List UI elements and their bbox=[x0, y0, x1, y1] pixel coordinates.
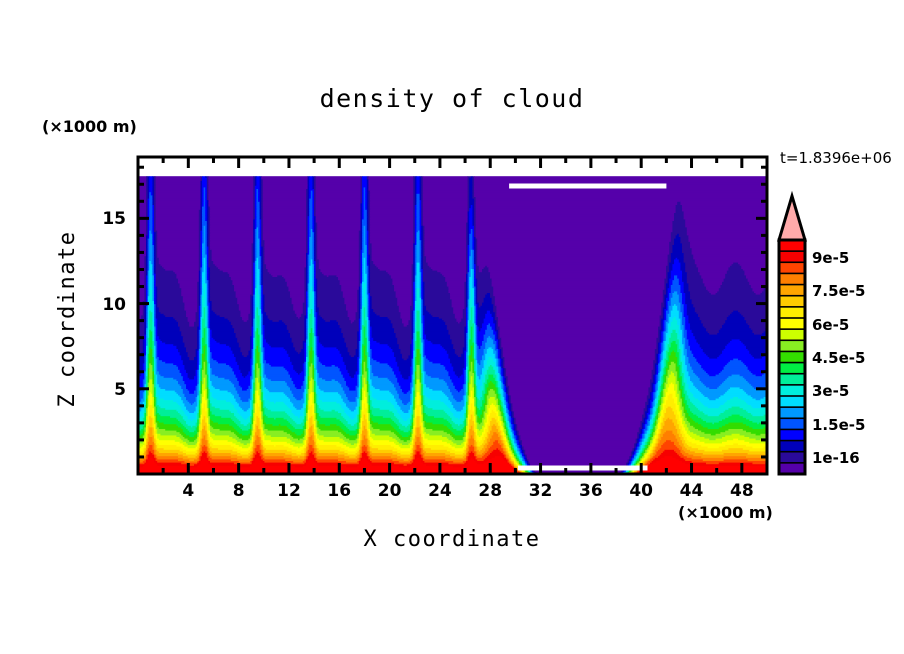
colorbar-tick-label: 9e-5 bbox=[812, 249, 849, 267]
colorbar-extend-arrow bbox=[779, 196, 805, 240]
x-tick-label: 8 bbox=[217, 481, 261, 501]
contour-bands bbox=[138, 176, 769, 476]
colorbar-swatch[interactable] bbox=[779, 418, 805, 430]
x-tick-label: 24 bbox=[418, 481, 462, 501]
x-tick-label: 16 bbox=[317, 481, 361, 501]
colorbar-swatch[interactable] bbox=[779, 374, 805, 386]
colorbar-swatch[interactable] bbox=[779, 351, 805, 363]
x-tick-label: 20 bbox=[368, 481, 412, 501]
x-tick-label: 36 bbox=[569, 481, 613, 501]
colorbar-tick-label: 4.5e-5 bbox=[812, 349, 865, 367]
colorbar-tick-label: 3e-5 bbox=[812, 382, 849, 400]
x-tick-label: 28 bbox=[468, 481, 512, 501]
x-tick-label: 40 bbox=[619, 481, 663, 501]
colorbar-swatch[interactable] bbox=[779, 296, 805, 308]
colorbar-swatch[interactable] bbox=[779, 385, 805, 397]
y-tick-label: 10 bbox=[86, 295, 126, 315]
colorbar-swatch[interactable] bbox=[779, 251, 805, 263]
colorbar-swatch[interactable] bbox=[779, 441, 805, 453]
colorbar-swatch[interactable] bbox=[779, 262, 805, 274]
colorbar-swatch[interactable] bbox=[779, 307, 805, 319]
colorbar-swatch[interactable] bbox=[779, 407, 805, 419]
y-tick-label: 15 bbox=[86, 209, 126, 229]
colorbar-swatch[interactable] bbox=[779, 273, 805, 285]
colorbar-tick-label: 6e-5 bbox=[812, 316, 849, 334]
colorbar-swatch[interactable] bbox=[779, 452, 805, 464]
x-tick-label: 48 bbox=[720, 481, 764, 501]
x-tick-label: 44 bbox=[670, 481, 714, 501]
x-tick-label: 12 bbox=[267, 481, 311, 501]
figure-root: density of cloud (×1000 m) t=1.8396e+06 … bbox=[0, 0, 904, 654]
colorbar-tick-label: 7.5e-5 bbox=[812, 282, 865, 300]
y-tick-label: 5 bbox=[86, 380, 126, 400]
colorbar-tick-label: 1.5e-5 bbox=[812, 416, 865, 434]
colorbar-swatch[interactable] bbox=[779, 240, 805, 252]
colorbar-tick-label: 1e-16 bbox=[812, 449, 860, 467]
colorbar[interactable] bbox=[779, 196, 805, 474]
colorbar-swatch[interactable] bbox=[779, 363, 805, 375]
x-tick-label: 4 bbox=[166, 481, 210, 501]
x-tick-label: 32 bbox=[519, 481, 563, 501]
colorbar-swatch[interactable] bbox=[779, 318, 805, 330]
contour-plot-canvas bbox=[0, 0, 904, 654]
colorbar-swatch[interactable] bbox=[779, 429, 805, 441]
colorbar-swatch[interactable] bbox=[779, 329, 805, 341]
colorbar-swatch[interactable] bbox=[779, 396, 805, 408]
colorbar-swatch[interactable] bbox=[779, 340, 805, 352]
colorbar-swatch[interactable] bbox=[779, 285, 805, 297]
